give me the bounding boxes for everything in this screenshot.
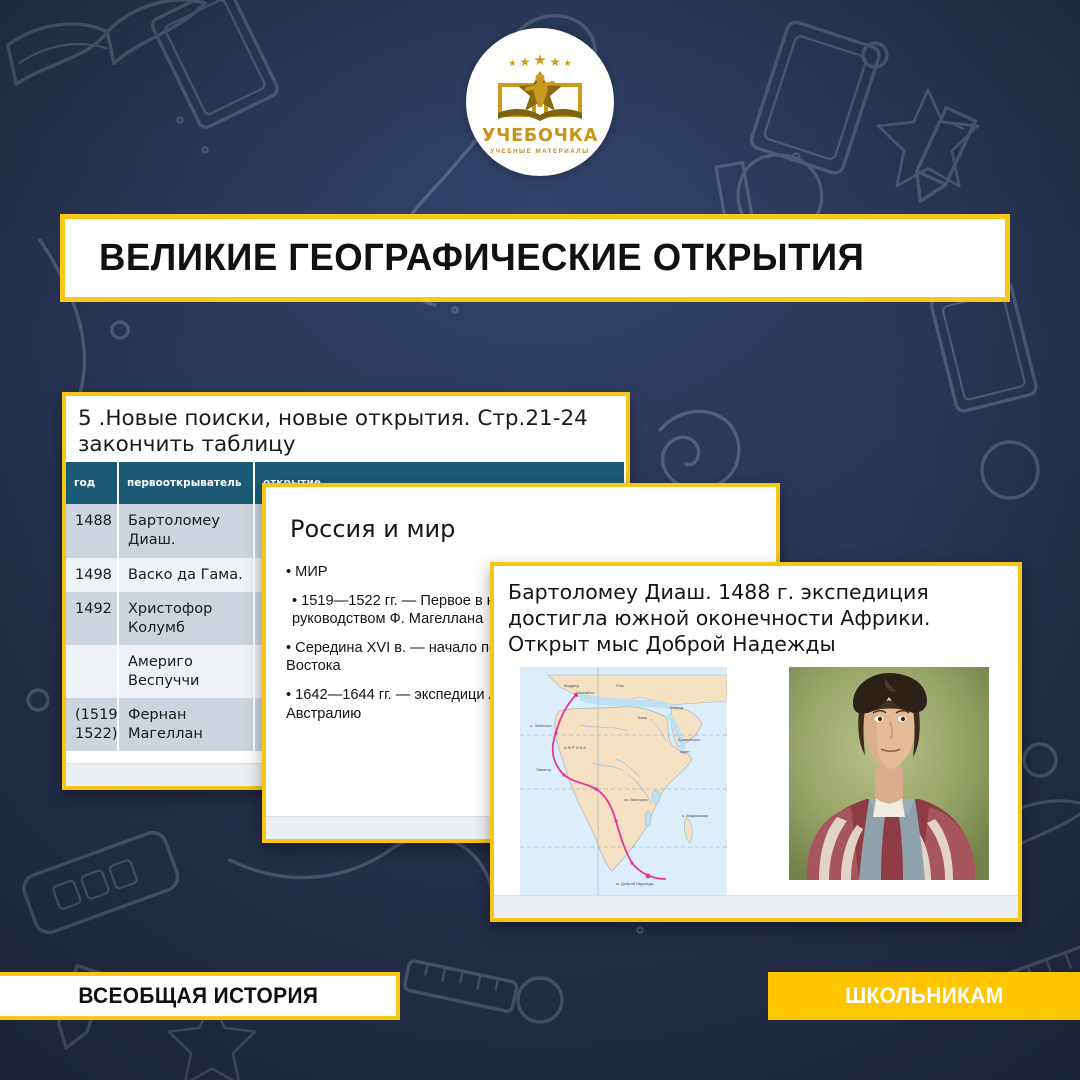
logo-brand-text: УЧЕБОЧКА (482, 126, 598, 146)
book-and-star-figure-icon (494, 69, 586, 123)
cell-year: 1498 (66, 558, 118, 593)
svg-text:А Ф Р И К А: А Ф Р И К А (564, 745, 586, 750)
bartolomeu-dias-portrait-image (789, 667, 989, 880)
svg-text:Багдад: Багдад (670, 705, 684, 710)
badge-subject[interactable]: ВСЕОБЩАЯ ИСТОРИЯ (0, 972, 400, 1020)
column-header-discoverer: первооткрыватель (118, 462, 254, 504)
svg-text:Каир: Каир (638, 715, 648, 720)
slide3-text: Бартоломеу Диаш. 1488 г. экспедиция дост… (494, 566, 1018, 657)
slide-card-dias[interactable]: Бартоломеу Диаш. 1488 г. экспедиция дост… (490, 562, 1022, 922)
page-title-banner: ВЕЛИКИЕ ГЕОГРАФИЧЕСКИЕ ОТКРЫТИЯ (60, 214, 1010, 302)
slide2-heading: Россия и мир (266, 487, 776, 543)
svg-text:Рим: Рим (616, 683, 624, 688)
svg-text:Аравийское: Аравийское (678, 737, 701, 742)
cell-year: 1488 (66, 504, 118, 557)
badge-audience-label: ШКОЛЬНИКАМ (845, 983, 1003, 1009)
page-title: ВЕЛИКИЕ ГЕОГРАФИЧЕСКИЕ ОТКРЫТИЯ (99, 237, 864, 280)
cell-person: Фернан Магеллан (118, 698, 254, 751)
svg-text:о. Зеленого: о. Зеленого (530, 723, 552, 728)
cell-person: Бартоломеу Диаш. (118, 504, 254, 557)
svg-text:Экватор: Экватор (536, 767, 552, 772)
logo-subtitle-text: УЧЕБНЫЕ МАТЕРИАЛЫ (490, 148, 589, 155)
brand-logo: ★ ★ ★ ★ ★ УЧЕБОЧКА УЧЕБНЫЕ МАТЕРИАЛЫ (466, 28, 614, 176)
slide1-heading-line2: закончить таблицу (78, 432, 614, 458)
logo-stars-icon: ★ ★ ★ ★ ★ (508, 53, 571, 68)
svg-text:оз. Виктория: оз. Виктория (624, 797, 648, 802)
svg-text:м. Доброй Надежды: м. Доброй Надежды (616, 881, 654, 886)
slide3-footer-bar (494, 895, 1018, 918)
slide1-heading-line1: 5 .Новые поиски, новые открытия. Стр.21-… (78, 406, 614, 432)
svg-text:Аден: Аден (680, 749, 689, 754)
cell-year: 1492 (66, 592, 118, 645)
africa-map-image: Мадрид Лиссабон Рим Багдад Каир Аравийск… (520, 667, 727, 895)
badge-audience[interactable]: ШКОЛЬНИКАМ (768, 972, 1080, 1020)
svg-text:Мадрид: Мадрид (564, 683, 579, 688)
slide3-media-row: Мадрид Лиссабон Рим Багдад Каир Аравийск… (494, 657, 1018, 895)
cell-person: Васко да Гама. (118, 558, 254, 593)
cell-person: Христофор Колумб (118, 592, 254, 645)
cell-year: (1519 1522) (66, 698, 118, 751)
svg-text:Лиссабон: Лиссабон (576, 690, 594, 695)
cell-person: Америго Веспуччи (118, 645, 254, 698)
slide1-heading: 5 .Новые поиски, новые открытия. Стр.21-… (66, 396, 626, 462)
cell-year (66, 645, 118, 698)
column-header-year: год (66, 462, 118, 504)
svg-text:о. Мадагаскар: о. Мадагаскар (682, 813, 709, 818)
badge-subject-label: ВСЕОБЩАЯ ИСТОРИЯ (78, 983, 318, 1009)
